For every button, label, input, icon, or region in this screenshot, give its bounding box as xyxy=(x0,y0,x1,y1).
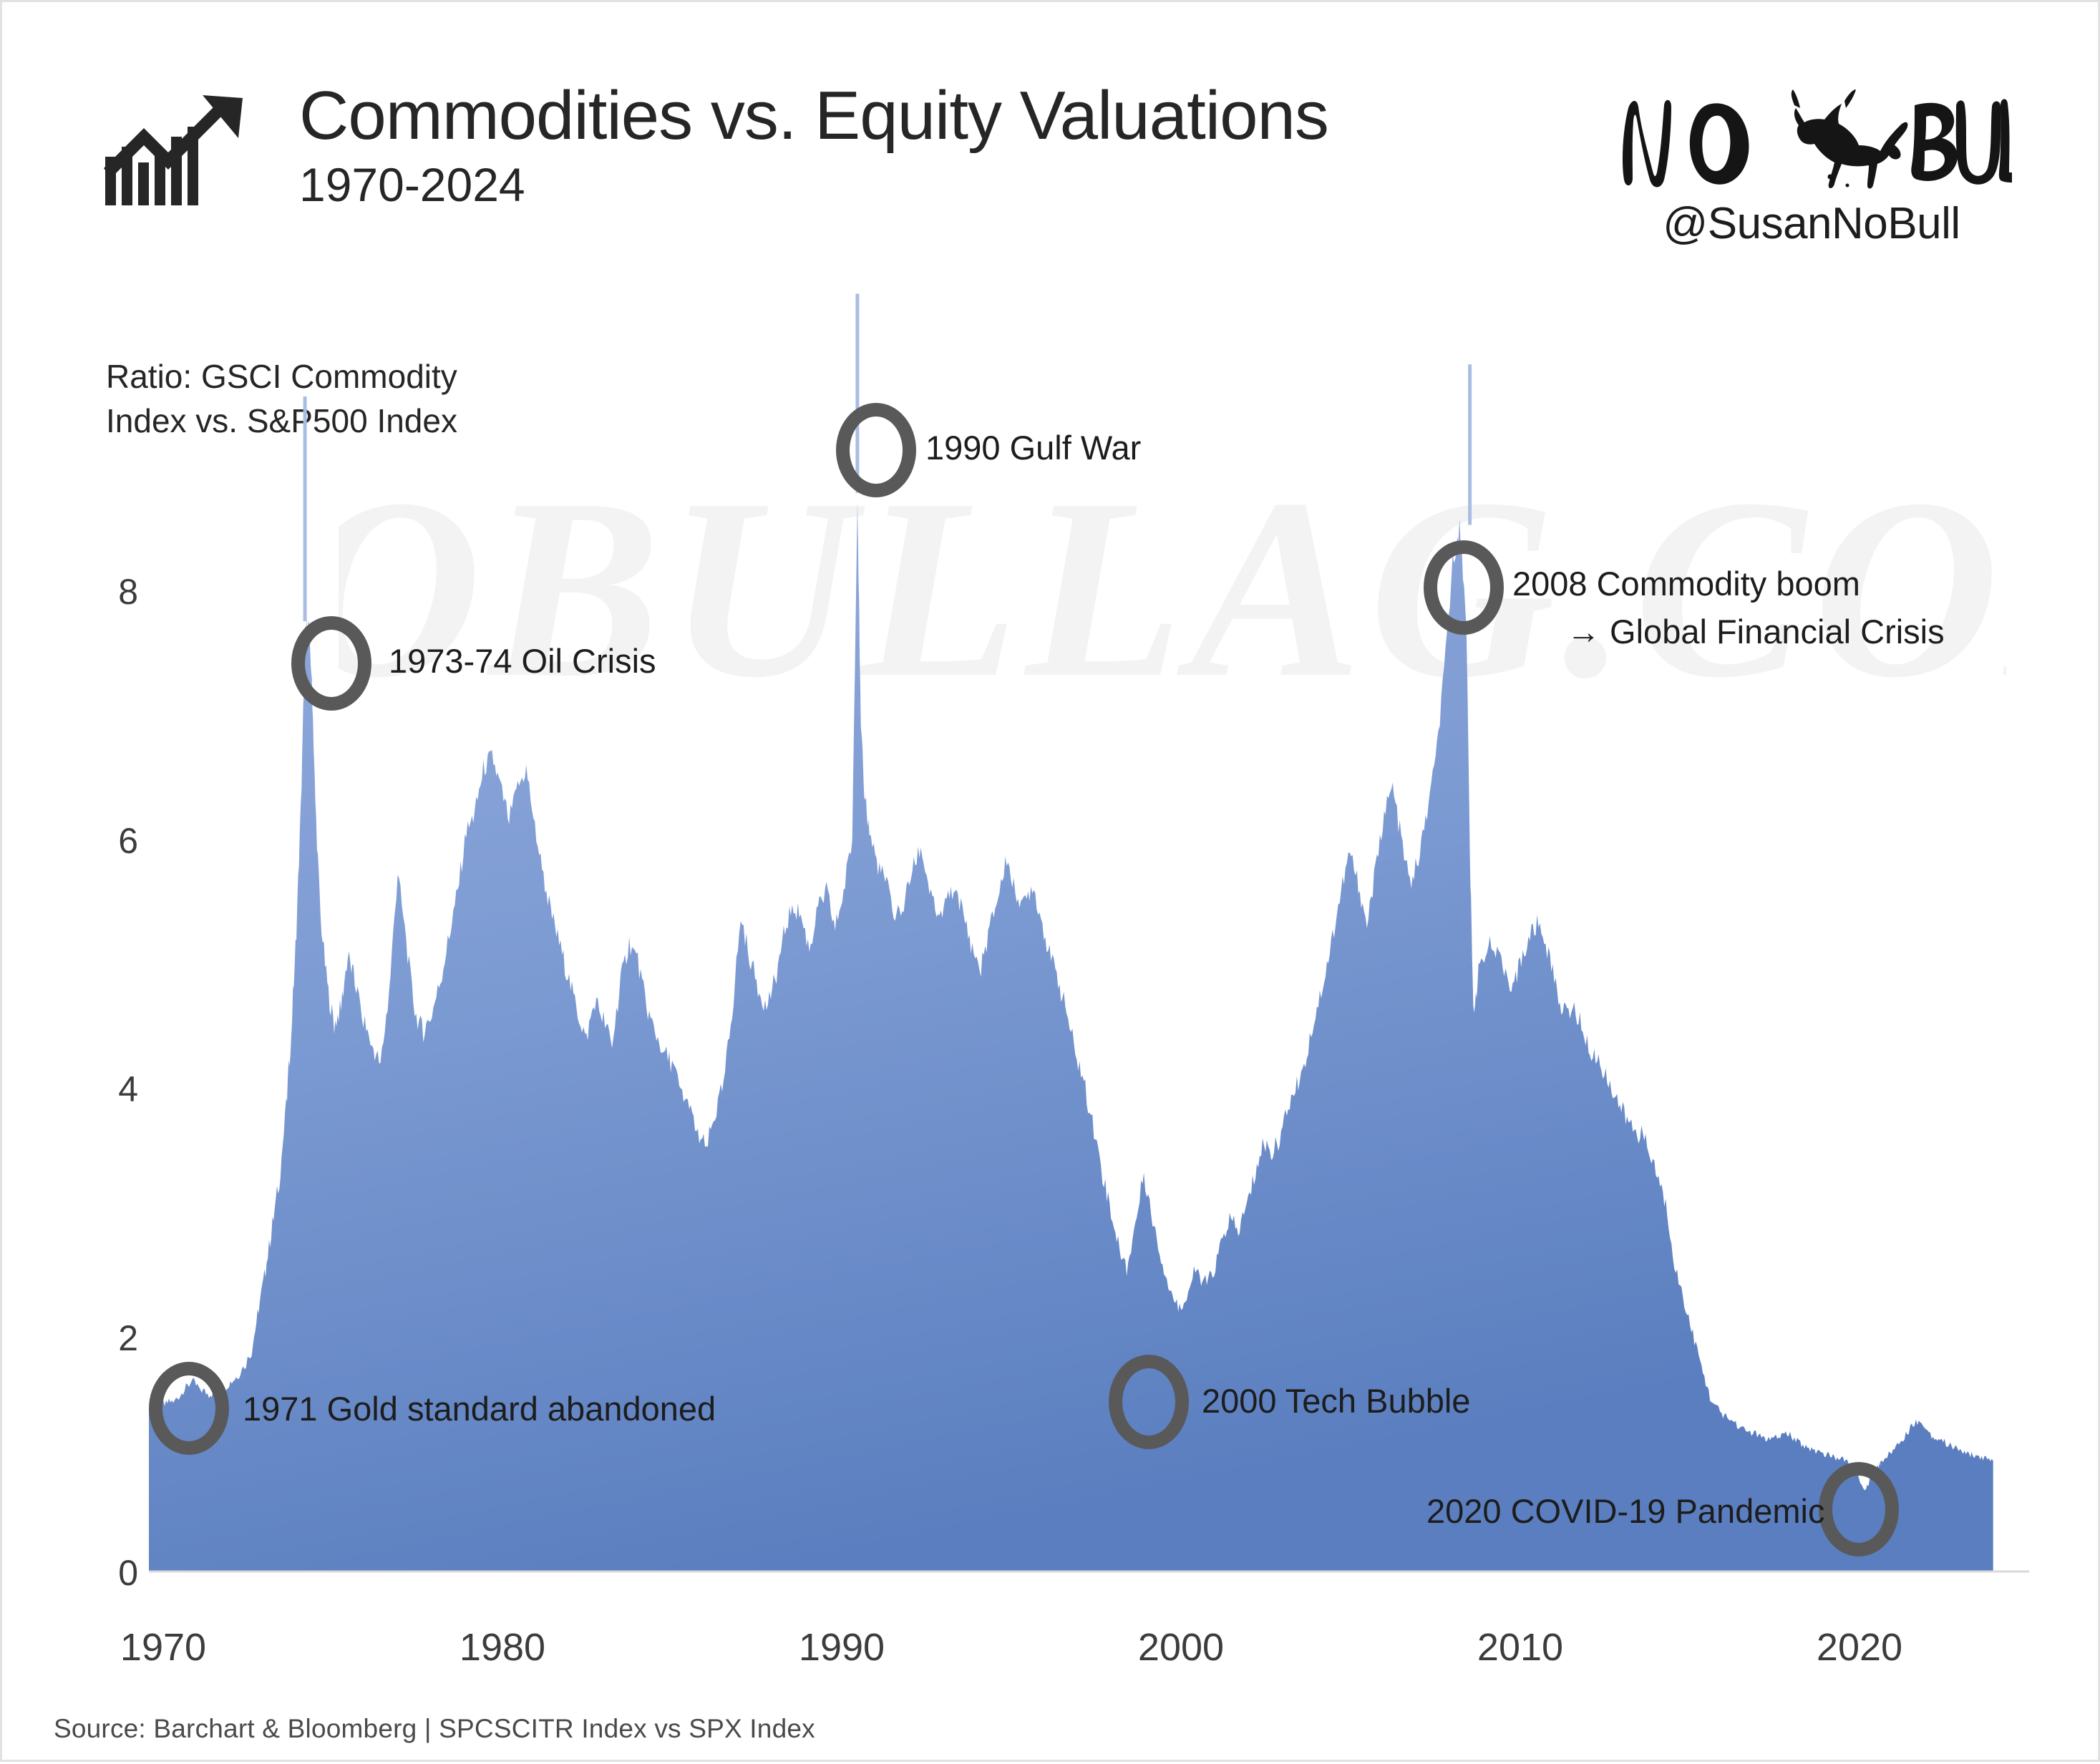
chart-page: Commodities vs. Equity Valuations 1970-2… xyxy=(0,0,2100,1762)
annotation-ring-covid xyxy=(1819,1462,1899,1556)
x-tick-2020: 2020 xyxy=(1781,1625,1938,1670)
annotation-label-gold-standard: 1971 Gold standard abandoned xyxy=(243,1387,716,1431)
annotation-label-commodity-boom: 2008 Commodity boom → Global Financial C… xyxy=(1512,560,1945,656)
y-axis-caption-line1: Ratio: GSCI Commodity xyxy=(106,354,457,399)
y-tick-4: 4 xyxy=(74,1068,138,1110)
annotation-label-covid: 2020 COVID-19 Pandemic xyxy=(1426,1489,1824,1534)
annotation-ring-gulf-war xyxy=(836,403,916,497)
source-note: Source: Barchart & Bloomberg | SPCSCITR … xyxy=(54,1714,815,1744)
header: Commodities vs. Equity Valuations 1970-2… xyxy=(2,2,2098,303)
y-tick-2: 2 xyxy=(74,1317,138,1359)
y-axis-caption-line2: Index vs. S&P500 Index xyxy=(106,399,457,443)
page-title: Commodities vs. Equity Valuations xyxy=(299,81,1328,151)
annotation-ring-oil-crisis xyxy=(291,616,371,711)
x-tick-2000: 2000 xyxy=(1102,1625,1260,1670)
annotation-ring-gold-standard xyxy=(149,1362,229,1455)
brand-handle: @SusanNoBull xyxy=(1604,198,2019,249)
brand-block: @SusanNoBull xyxy=(1604,88,2019,249)
annotation-label-commodity-boom-line1: 2008 Commodity boom xyxy=(1512,565,1860,603)
x-tick-1970: 1970 xyxy=(84,1625,242,1670)
x-tick-2010: 2010 xyxy=(1442,1625,1599,1670)
x-tick-1990: 1990 xyxy=(763,1625,920,1670)
y-tick-8: 8 xyxy=(74,571,138,613)
page-subtitle: 1970-2024 xyxy=(299,155,1328,215)
y-axis-caption: Ratio: GSCI Commodity Index vs. S&P500 I… xyxy=(106,354,457,443)
y-tick-6: 6 xyxy=(74,820,138,862)
no-bull-logo-icon xyxy=(1611,88,2012,195)
x-tick-1980: 1980 xyxy=(424,1625,581,1670)
annotation-ring-tech-bubble xyxy=(1109,1355,1189,1449)
annotation-label-gulf-war: 1990 Gulf War xyxy=(925,426,1141,470)
bar-chart-up-arrow-icon xyxy=(102,94,253,208)
title-block: Commodities vs. Equity Valuations 1970-2… xyxy=(299,81,1328,214)
annotation-label-commodity-boom-line2: → Global Financial Crisis xyxy=(1512,608,1945,656)
annotation-label-oil-crisis: 1973-74 Oil Crisis xyxy=(389,639,656,683)
y-tick-0: 0 xyxy=(74,1552,138,1594)
annotation-label-tech-bubble: 2000 Tech Bubble xyxy=(1202,1379,1470,1423)
annotation-ring-commodity-boom xyxy=(1424,540,1504,635)
